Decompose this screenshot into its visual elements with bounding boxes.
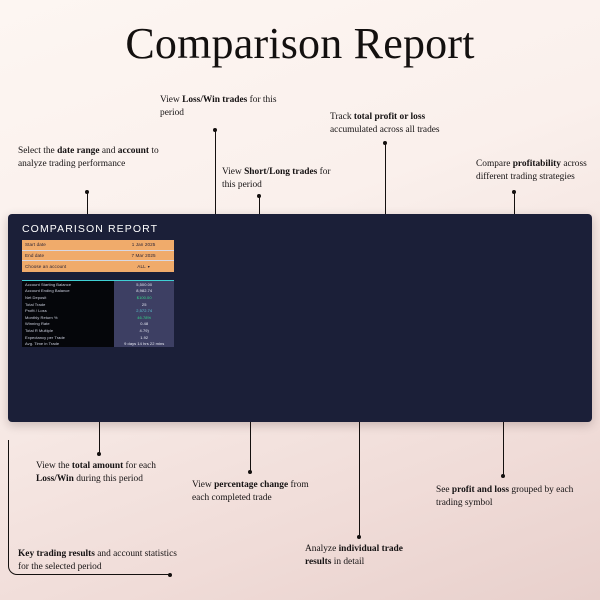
leader-elbow-key-results (8, 440, 170, 575)
filter-label: Choose an account (22, 264, 113, 269)
stat-label: Total Trade (22, 301, 114, 308)
stat-row: Net Deposit$100.00 (22, 294, 174, 301)
filter-label: Start date (22, 242, 113, 247)
filter-row-2[interactable]: Choose an accountALL▾ (22, 261, 174, 272)
filter-value[interactable]: ALL▾ (113, 264, 174, 269)
stat-value: $100.00 (114, 294, 174, 301)
dashboard-title: COMPARISON REPORT (22, 223, 158, 235)
stat-value: 1.92 (114, 334, 174, 341)
stat-row: Winning Rate0.48 (22, 321, 174, 328)
stat-row: Profit / Loss2,572.74 (22, 307, 174, 314)
filter-row-0[interactable]: Start date1 Jan 2025 (22, 240, 174, 251)
stat-label: Expectancy per Trade (22, 334, 114, 341)
stat-row: Total R Multiple4.79) (22, 327, 174, 334)
leader-line-date-range (87, 192, 88, 216)
stat-value: 46.78% (114, 314, 174, 321)
stat-label: Avg. Time in Trade (22, 340, 114, 347)
stat-row: Account Ending Balance8,982.74 (22, 288, 174, 295)
filter-value[interactable]: 7 Mar 2025 (113, 253, 174, 258)
stat-value: 25 (114, 301, 174, 308)
filter-panel: Start date1 Jan 2025End date7 Mar 2025Ch… (22, 240, 174, 272)
annotation-profit-loss-symbol: See profit and loss grouped by each trad… (436, 484, 576, 511)
stat-value: 9 days 14 hrs 22 mins (114, 340, 174, 347)
annotation-individual-trade: Analyze individual trade results in deta… (305, 543, 415, 570)
stat-row: Total Trade25 (22, 301, 174, 308)
stat-label: Account Starting Balance (22, 281, 114, 288)
leader-dot-date-range (85, 190, 89, 194)
page-title: Comparison Report (0, 18, 600, 69)
annotation-loss-win: View Loss/Win trades for this period (160, 94, 278, 121)
leader-dot-profitability (512, 190, 516, 194)
stat-row: Expectancy per Trade1.92 (22, 334, 174, 341)
annotation-date-range: Select the date range and account to ana… (18, 145, 160, 172)
stat-row: Account Starting Balance5,500.00 (22, 281, 174, 288)
stat-label: Account Ending Balance (22, 288, 114, 295)
stat-value: 8,982.74 (114, 288, 174, 295)
stat-label: Total R Multiple (22, 327, 114, 334)
leader-dot-key-results (168, 573, 172, 577)
stat-label: Monthly Return % (22, 314, 114, 321)
leader-dot-total-profit (383, 141, 387, 145)
annotation-percentage-change: View percentage change from each complet… (192, 479, 326, 506)
stat-value: 2,572.74 (114, 307, 174, 314)
leader-dot-short-long (257, 194, 261, 198)
stat-label: Winning Rate (22, 321, 114, 328)
stat-value: 4.79) (114, 327, 174, 334)
leader-dot-individual-trade (357, 535, 361, 539)
filter-row-1[interactable]: End date7 Mar 2025 (22, 251, 174, 262)
comparison-report-dashboard: COMPARISON REPORT Start date1 Jan 2025En… (8, 214, 592, 422)
stat-row: Avg. Time in Trade9 days 14 hrs 22 mins (22, 340, 174, 347)
leader-dot-profit-loss-symbol (501, 474, 505, 478)
stat-value: 0.48 (114, 321, 174, 328)
leader-dot-percentage-change (248, 470, 252, 474)
chevron-down-icon[interactable]: ▾ (148, 264, 150, 269)
annotation-short-long: View Short/Long trades for this period (222, 166, 332, 193)
annotation-total-profit: Track total profit or loss accumulated a… (330, 111, 470, 138)
key-statistics-table: Account Starting Balance5,500.00Account … (22, 280, 174, 347)
annotation-profitability: Compare profitability across different t… (476, 158, 588, 185)
leader-dot-loss-win (213, 128, 217, 132)
stat-label: Profit / Loss (22, 307, 114, 314)
stat-row: Monthly Return %46.78% (22, 314, 174, 321)
stat-label: Net Deposit (22, 294, 114, 301)
filter-label: End date (22, 253, 113, 258)
stat-value: 5,500.00 (114, 281, 174, 288)
filter-value[interactable]: 1 Jan 2025 (113, 242, 174, 247)
